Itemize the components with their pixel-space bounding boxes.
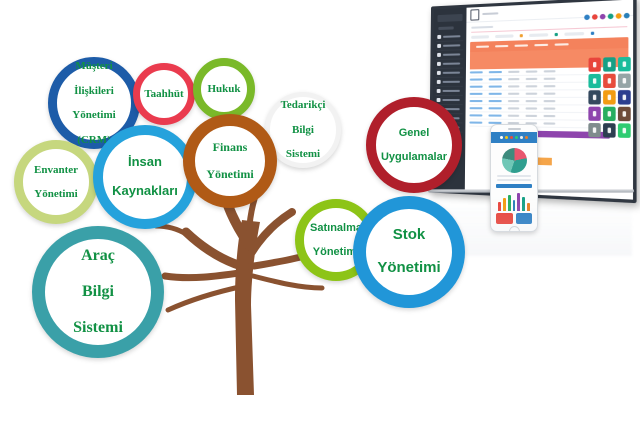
module-bubble-envanter[interactable]: EnvanterYönetimi [14, 140, 98, 224]
app-title-placeholder [482, 12, 498, 15]
phone-text-line [497, 179, 531, 181]
module-bubble-arac-bilgi-sistemi[interactable]: AraçBilgiSistemi [32, 226, 164, 358]
module-bubble-label: AraçBilgiSistemi [65, 247, 131, 337]
app-tile[interactable] [603, 123, 616, 138]
dashboard-topbar [466, 0, 633, 23]
app-tile[interactable] [618, 107, 631, 122]
bubble-label-line: İlişkileri [68, 85, 119, 97]
sidebar-menu-item[interactable] [436, 78, 463, 87]
sidebar-group-label [438, 26, 453, 30]
app-tile-grid[interactable] [588, 57, 630, 138]
module-bubble-label: StokYönetimi [369, 227, 448, 277]
phone-pie-chart [502, 148, 527, 173]
app-tile[interactable] [588, 107, 600, 121]
infographic-canvas: MüşteriİlişkileriYönetimi(CRM)TaahhütHuk… [0, 0, 640, 427]
app-tile[interactable] [588, 74, 600, 88]
app-logo-icon [470, 9, 479, 21]
app-tile[interactable] [618, 90, 631, 104]
module-bubble-hukuk[interactable]: Hukuk [193, 58, 255, 120]
breadcrumb [471, 26, 493, 29]
bubble-label-line: Tedarikçi [277, 99, 330, 111]
menu-icon [437, 44, 441, 48]
sidebar-menu-item[interactable] [436, 59, 463, 69]
module-bubble-label: Taahhüt [136, 88, 191, 100]
phone-text-line [497, 175, 531, 177]
bubble-label-line: Kaynakları [108, 184, 182, 199]
bubble-label-line: Stok [373, 227, 444, 244]
bubble-label-line: Yönetimi [30, 188, 82, 200]
app-tile[interactable] [588, 90, 600, 104]
module-bubble-label: FinansYönetimi [198, 141, 261, 181]
module-bubble-label: GenelUygulamalar [373, 127, 455, 164]
menu-icon [437, 89, 441, 93]
menu-icon [437, 98, 441, 102]
bubble-label-line: Sistemi [277, 148, 330, 160]
app-tile[interactable] [603, 90, 616, 104]
bubble-label-line: Yönetimi [68, 109, 119, 121]
app-tile[interactable] [589, 58, 601, 72]
bubble-label-line: Envanter [30, 164, 82, 176]
bubble-label-line: Bilgi [277, 124, 330, 136]
bubble-label-line: Genel [377, 127, 451, 139]
app-tile[interactable] [618, 123, 631, 138]
module-bubble-taahhut[interactable]: Taahhüt [133, 63, 195, 125]
menu-icon [437, 80, 441, 84]
app-tile[interactable] [618, 73, 631, 87]
module-bubble-insan-kaynaklari[interactable]: İnsanKaynakları [93, 125, 197, 229]
module-bubble-label: Hukuk [199, 83, 248, 95]
bubble-label-line: Uygulamalar [377, 151, 451, 163]
bubble-label-line: Müşteri [68, 60, 119, 72]
topbar-nav-dots[interactable] [584, 13, 629, 20]
bubble-label-line: Hukuk [203, 83, 244, 95]
bubble-label-line: Taahhüt [140, 88, 187, 100]
module-bubble-stok[interactable]: StokYönetimi [353, 196, 465, 308]
app-tile[interactable] [618, 57, 631, 72]
module-bubble-label: TedarikçiBilgiSistemi [273, 99, 334, 161]
bubble-label-line: Finans [202, 141, 257, 154]
bubble-label-line: Yönetimi [202, 168, 257, 181]
app-tile[interactable] [603, 74, 616, 88]
menu-icon [437, 35, 441, 39]
phone-app-toolbar[interactable] [491, 132, 537, 143]
module-bubble-genel-uygulamalar[interactable]: GenelUygulamalar [366, 97, 462, 193]
bubble-label-line: Sistemi [69, 319, 127, 337]
module-bubble-label: İnsanKaynakları [104, 155, 186, 199]
menu-icon [437, 53, 441, 57]
sidebar-menu-item[interactable] [436, 87, 463, 96]
bubble-label-line: Araç [69, 247, 127, 265]
bubble-label-line: Bilgi [69, 283, 127, 301]
phone-section-header [496, 184, 532, 188]
app-tile[interactable] [603, 57, 616, 71]
sidebar-menu-item[interactable] [436, 69, 463, 78]
app-tile[interactable] [603, 107, 616, 121]
bubble-label-line: Yönetimi [373, 260, 444, 277]
menu-icon [437, 62, 441, 66]
module-bubble-label: EnvanterYönetimi [26, 164, 86, 201]
sidebar-brand-logo [437, 14, 462, 22]
phone-speaker [491, 125, 537, 132]
app-tile[interactable] [588, 123, 600, 137]
module-bubble-finans[interactable]: FinansYönetimi [183, 114, 277, 208]
bubble-label-line: İnsan [108, 155, 182, 170]
menu-icon [437, 71, 441, 75]
